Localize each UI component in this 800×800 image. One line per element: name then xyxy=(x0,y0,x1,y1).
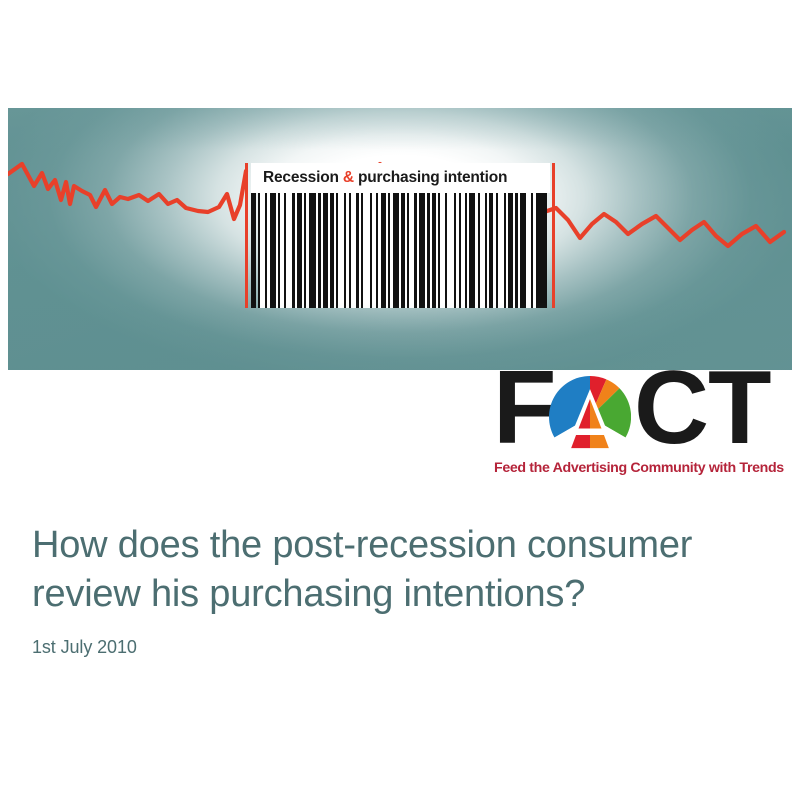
barcode-bar xyxy=(361,193,363,308)
barcode-bar xyxy=(524,193,526,308)
barcode-bar xyxy=(407,193,409,308)
fact-logo-tagline: Feed the Advertising Community with Tren… xyxy=(494,460,784,476)
barcode-bar xyxy=(344,193,346,308)
barcode-bar xyxy=(414,193,417,308)
barcode-bar xyxy=(515,193,518,308)
fact-letter-t: T xyxy=(708,364,770,452)
barcode-bar xyxy=(265,193,267,308)
barcode-bar xyxy=(318,193,321,308)
barcode-bar xyxy=(356,193,359,308)
title-block: How does the post-recession consumer rev… xyxy=(32,521,772,658)
barcode-bar xyxy=(309,193,316,308)
barcode-bar xyxy=(478,193,480,308)
barcode-bar xyxy=(438,193,440,308)
barcode-bar xyxy=(454,193,456,308)
barcode-bar xyxy=(536,193,542,308)
barcode-bar xyxy=(496,193,498,308)
barcode-bar xyxy=(459,193,461,308)
barcode-bars xyxy=(258,193,540,308)
barcode-left-red-rule xyxy=(245,163,248,308)
barcode-graphic: Recession & purchasing intention xyxy=(245,163,555,308)
fact-letter-c: C xyxy=(634,364,707,452)
barcode-bar xyxy=(445,193,447,308)
page-title: How does the post-recession consumer rev… xyxy=(32,521,772,619)
barcode-bar xyxy=(432,193,436,308)
barcode-bar xyxy=(401,193,405,308)
barcode-title-bar: Recession & purchasing intention xyxy=(251,163,550,193)
fact-logo: F C T Feed the Advertising Community wit… xyxy=(493,370,793,480)
chart-line-declining-trend-left xyxy=(8,164,246,219)
barcode-bar xyxy=(292,193,295,308)
barcode-bar xyxy=(284,193,286,308)
barcode-bar xyxy=(508,193,513,308)
hero-banner: Recession & purchasing intention xyxy=(8,108,792,370)
barcode-bar xyxy=(278,193,280,308)
barcode-bar xyxy=(258,193,260,308)
barcode-bar xyxy=(330,193,334,308)
page-date: 1st July 2010 xyxy=(32,637,772,658)
barcode-bar xyxy=(297,193,302,308)
barcode-bar xyxy=(381,193,386,308)
barcode-bar xyxy=(469,193,475,308)
barcode-bar xyxy=(376,193,378,308)
barcode-bar xyxy=(349,193,351,308)
barcode-bar xyxy=(465,193,467,308)
barcode-bar xyxy=(489,193,493,308)
barcode-bar xyxy=(485,193,487,308)
barcode-bar xyxy=(531,193,533,308)
barcode-title-text: Recession & purchasing intention xyxy=(251,170,507,186)
barcode-bar xyxy=(270,193,276,308)
fact-letter-f: F xyxy=(493,364,555,452)
barcode-title-ampersand: & xyxy=(343,169,354,186)
barcode-bar xyxy=(427,193,430,308)
fact-wordmark: F C T xyxy=(493,370,793,458)
barcode-bar xyxy=(419,193,425,308)
barcode-bar xyxy=(323,193,328,308)
barcode-title-prefix: Recession xyxy=(263,169,343,186)
barcode-bar xyxy=(393,193,399,308)
fact-logo-a-mark xyxy=(549,376,631,458)
barcode-right-red-rule xyxy=(552,163,555,308)
barcode-title-suffix: purchasing intention xyxy=(354,169,507,186)
barcode-bar xyxy=(370,193,372,308)
barcode-bar xyxy=(304,193,306,308)
barcode-bar xyxy=(504,193,506,308)
barcode-bar xyxy=(336,193,338,308)
barcode-bar xyxy=(388,193,390,308)
